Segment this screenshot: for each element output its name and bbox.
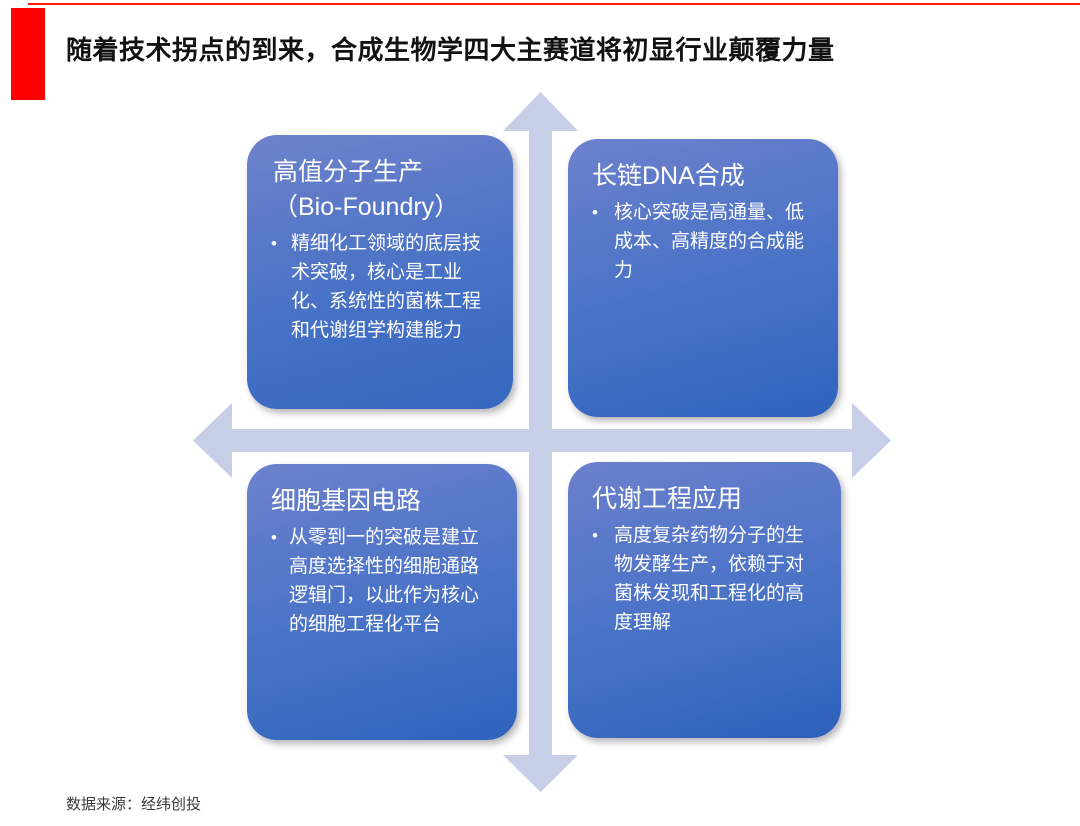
quadrant-bullet-list: 核心突破是高通量、低成本、高精度的合成能力 [590,198,816,285]
quadrant-bullet: 精细化工领域的底层技术突破，核心是工业化、系统性的菌株工程和代谢组学构建能力 [269,229,491,345]
quadrant-bullet-list: 精细化工领域的底层技术突破，核心是工业化、系统性的菌株工程和代谢组学构建能力 [269,229,491,345]
red-accent-bar [11,8,45,100]
quadrant-card-top-left[interactable]: 高值分子生产（Bio-Foundry） 精细化工领域的底层技术突破，核心是工业化… [247,135,513,409]
axis-horizontal-shaft [229,429,861,452]
quadrant-bullet: 从零到一的突破是建立高度选择性的细胞通路逻辑门，以此作为核心的细胞工程化平台 [269,523,495,639]
quadrant-title: 高值分子生产（Bio-Foundry） [269,155,491,225]
slide-canvas: 随着技术拐点的到来，合成生物学四大主赛道将初显行业颠覆力量 高值分子生产（Bio… [0,0,1080,826]
quadrant-title: 长链DNA合成 [590,159,816,194]
quadrant-title: 细胞基因电路 [269,484,495,519]
quadrant-card-top-right[interactable]: 长链DNA合成 核心突破是高通量、低成本、高精度的合成能力 [568,139,838,417]
axis-vertical-shaft [529,128,552,763]
quadrant-card-bottom-right[interactable]: 代谢工程应用 高度复杂药物分子的生物发酵生产，依赖于对菌株发现和工程化的高度理解 [568,462,841,738]
quadrant-bullet-list: 从零到一的突破是建立高度选择性的细胞通路逻辑门，以此作为核心的细胞工程化平台 [269,523,495,639]
top-rule-divider [28,3,1080,5]
up-arrow-icon [503,92,578,131]
left-arrow-icon [193,403,232,478]
quadrant-axis-arrows [0,0,1080,826]
quadrant-bullet: 高度复杂药物分子的生物发酵生产，依赖于对菌株发现和工程化的高度理解 [590,521,819,637]
quadrant-bullet: 核心突破是高通量、低成本、高精度的合成能力 [590,198,816,285]
quadrant-bullet-list: 高度复杂药物分子的生物发酵生产，依赖于对菌株发现和工程化的高度理解 [590,521,819,637]
right-arrow-icon [852,403,891,478]
down-arrow-icon [503,755,578,792]
quadrant-title: 代谢工程应用 [590,482,819,517]
page-title: 随着技术拐点的到来，合成生物学四大主赛道将初显行业颠覆力量 [66,30,1026,70]
source-note: 数据来源：经纬创投 [66,793,201,814]
quadrant-card-bottom-left[interactable]: 细胞基因电路 从零到一的突破是建立高度选择性的细胞通路逻辑门，以此作为核心的细胞… [247,464,517,740]
